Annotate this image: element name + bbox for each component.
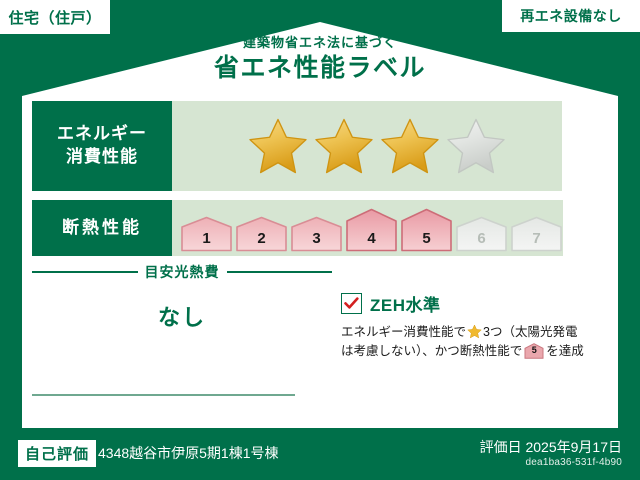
insulation-level-number: 7: [510, 230, 563, 247]
cost-section-divider: [32, 394, 295, 396]
zeh-description: エネルギー消費性能で3つ（太陽光発電は考慮しない）、かつ断熱性能で5を達成: [341, 323, 613, 362]
zeh-title: ZEH水準: [370, 291, 441, 316]
insulation-level-number: 2: [235, 230, 288, 247]
insulation-level-scale: 1234567: [172, 200, 563, 256]
utility-cost-heading-text: 目安光熱費: [145, 262, 220, 282]
utility-cost-value: なし: [32, 300, 332, 332]
cost-heading-rule-right: [227, 271, 333, 273]
energy-star-rating: [172, 101, 562, 191]
inline-house-icon: 5: [524, 343, 544, 359]
insulation-level-number: 3: [290, 230, 343, 247]
insulation-level-4: 4: [345, 204, 398, 252]
insulation-level-6: 6: [455, 204, 508, 252]
insulation-performance-row: 断熱性能 1234567: [32, 200, 562, 256]
energy-performance-row: エネルギー 消費性能: [32, 101, 562, 191]
renewable-energy-tag: 再エネ設備なし: [502, 0, 640, 32]
cost-heading-rule-left: [32, 271, 138, 273]
zeh-heading: ZEH水準: [341, 291, 613, 316]
property-name: 4348越谷市伊原5期1棟1号棟: [98, 443, 279, 463]
evaluation-type-badge: 自己評価: [18, 440, 96, 467]
insulation-level-3: 3: [290, 204, 343, 252]
evaluation-id: dea1ba36-531f-4b90: [526, 457, 622, 468]
building-type-tag: 住宅（住戸）: [0, 0, 110, 34]
star-filled-icon: [313, 116, 375, 176]
insulation-level-1: 1: [180, 204, 233, 252]
zeh-checkbox-checked-icon: [341, 293, 362, 314]
zeh-desc-stars: 3つ（太陽光発電: [483, 325, 577, 339]
insulation-level-number: 6: [455, 230, 508, 247]
zeh-desc-part2: は考慮しない）、かつ断熱性能で: [341, 344, 522, 358]
energy-label-line1: エネルギー: [57, 123, 147, 146]
insulation-level-5: 5: [400, 204, 453, 252]
utility-cost-heading: 目安光熱費: [32, 262, 332, 282]
insulation-level-2: 2: [235, 204, 288, 252]
insulation-level-number: 1: [180, 230, 233, 247]
inline-star-icon: [467, 324, 482, 339]
insulation-level-number: 4: [345, 230, 398, 247]
label-footer: 自己評価 4348越谷市伊原5期1棟1号棟 評価日 2025年9月17日 dea…: [0, 428, 640, 480]
zeh-desc-part1: エネルギー消費性能で: [341, 325, 466, 339]
star-empty-icon: [445, 116, 507, 176]
energy-label-line2: 消費性能: [66, 146, 138, 169]
zeh-desc-part3: を達成: [546, 344, 584, 358]
insulation-performance-label: 断熱性能: [32, 200, 172, 256]
energy-performance-label: 住宅（住戸） 再エネ設備なし 建築物省エネ法に基づく 省エネ性能ラベル エネルギ…: [0, 0, 640, 480]
insulation-level-number: 5: [400, 230, 453, 247]
insulation-level-7: 7: [510, 204, 563, 252]
evaluation-date: 評価日 2025年9月17日: [480, 437, 622, 457]
zeh-standard-block: ZEH水準 エネルギー消費性能で3つ（太陽光発電は考慮しない）、かつ断熱性能で5…: [341, 291, 613, 362]
energy-performance-label: エネルギー 消費性能: [32, 101, 172, 191]
star-filled-icon: [247, 116, 309, 176]
inline-house-level: 5: [524, 344, 544, 358]
star-filled-icon: [379, 116, 441, 176]
